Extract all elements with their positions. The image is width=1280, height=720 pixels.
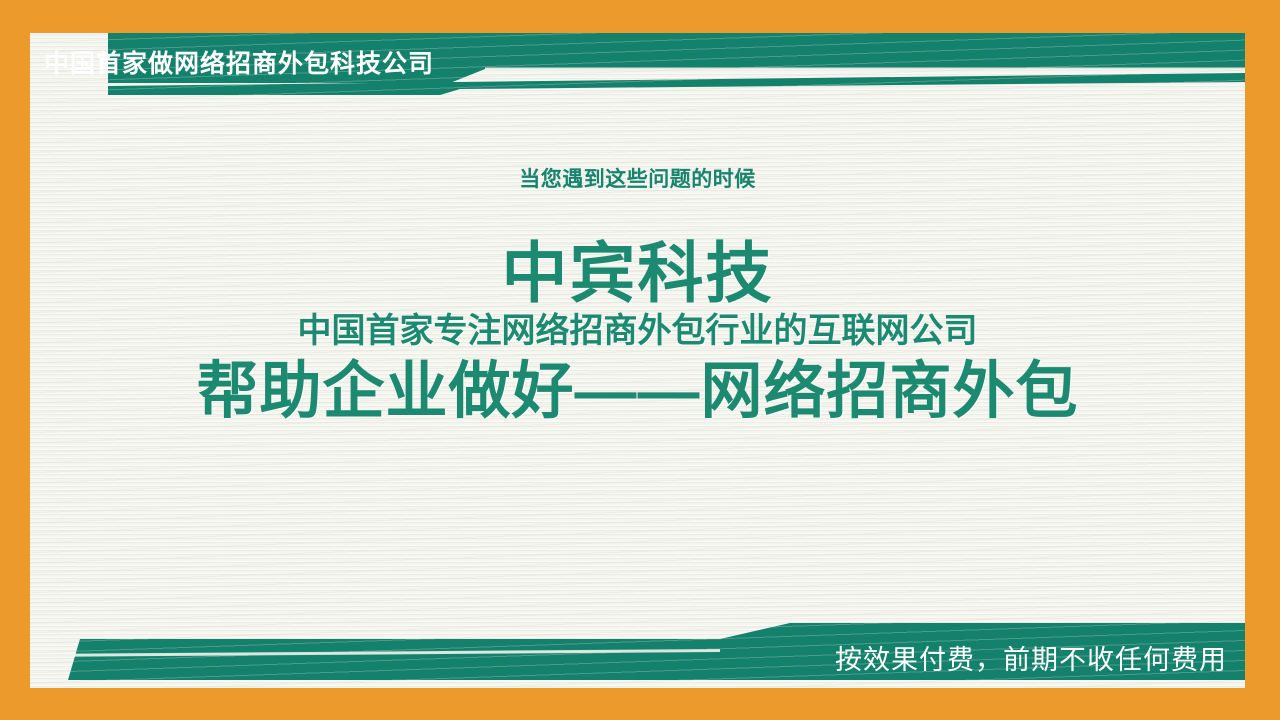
main-content: 当您遇到这些问题的时候 中宾科技 中国首家专注网络招商外包行业的互联网公司 帮助… [30, 33, 1245, 688]
eyebrow-text: 当您遇到这些问题的时候 [30, 163, 1245, 193]
headline-text: 帮助企业做好——网络招商外包 [30, 358, 1245, 426]
slide-canvas: 中国首家做网络招商外包科技公司 当您遇到这些问题的时候 中宾科技 中国首家专注网… [0, 0, 1280, 720]
slide-paper-panel: 中国首家做网络招商外包科技公司 当您遇到这些问题的时候 中宾科技 中国首家专注网… [30, 33, 1245, 688]
header-title: 中国首家做网络招商外包科技公司 [44, 44, 434, 80]
footer-text: 按效果付费，前期不收任何费用 [835, 638, 1227, 677]
tagline-text: 中国首家专注网络招商外包行业的互联网公司 [30, 314, 1245, 348]
brand-name: 中宾科技 [30, 240, 1245, 306]
